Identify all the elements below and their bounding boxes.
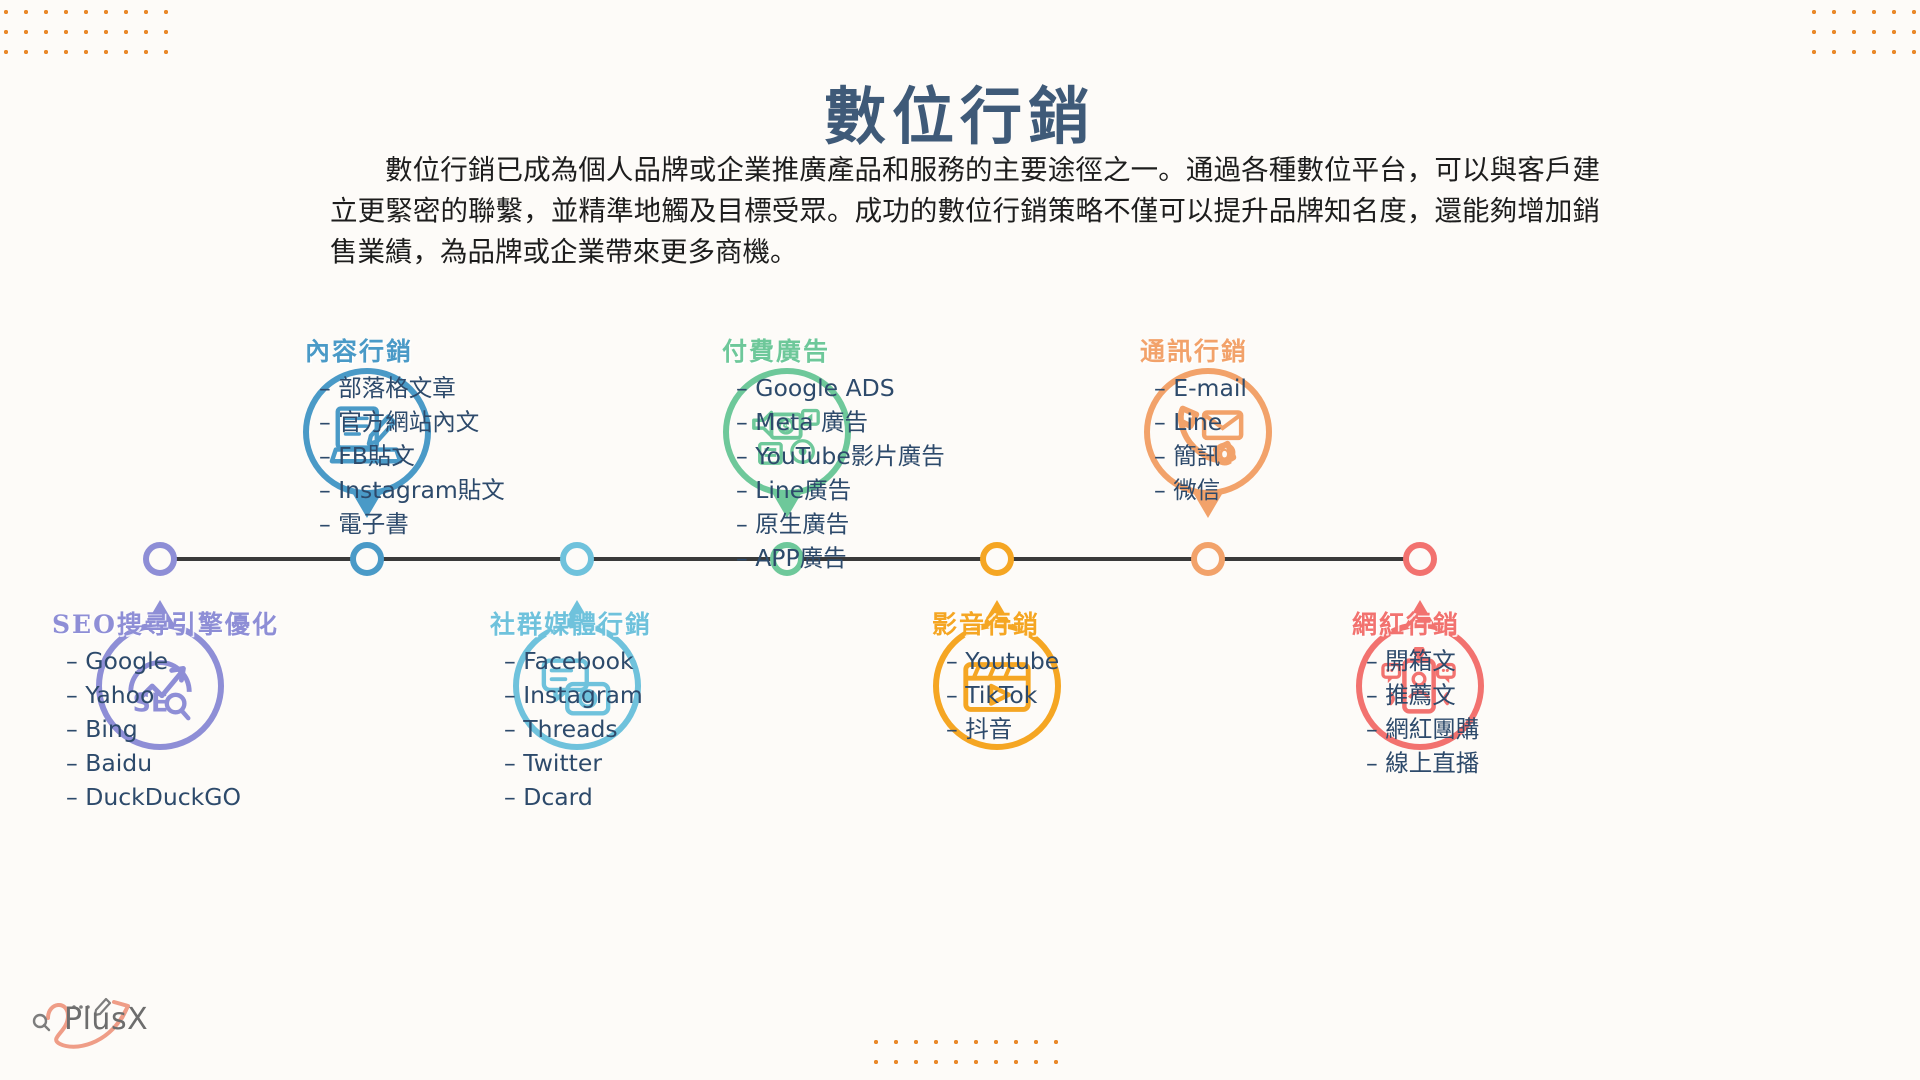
list-item: 線上直播 [1366, 746, 1479, 780]
logo-text: PlusX [64, 1002, 148, 1037]
dot-pattern-top-right [1804, 2, 1920, 68]
section-heading-social: 社群媒體行銷 [490, 605, 652, 641]
section-list-content: 部落格文章官方網站內文FB貼文Instagram貼文電子書 [305, 371, 505, 541]
list-item: 開箱文 [1366, 644, 1479, 678]
section-block-social: 社群媒體行銷FacebookInstagramThreadsTwitterDca… [490, 605, 652, 814]
list-item: TikTok [946, 678, 1059, 712]
section-block-influencer: 網紅行銷開箱文推薦文網紅團購線上直播 [1352, 605, 1479, 780]
dot-pattern-bottom [866, 1032, 1058, 1076]
section-block-video: 影音行銷YoutubeTikTok抖音 [932, 605, 1059, 746]
section-heading-video: 影音行銷 [932, 605, 1059, 641]
list-item: Facebook [504, 644, 652, 678]
section-heading-paid-ads: 付費廣告 [722, 332, 945, 368]
section-block-messaging: 通訊行銷E-mailLine簡訊微信 [1140, 332, 1248, 507]
list-item: Line廣告 [736, 473, 945, 507]
section-list-social: FacebookInstagramThreadsTwitterDcard [490, 644, 652, 814]
section-block-content: 內容行銷部落格文章官方網站內文FB貼文Instagram貼文電子書 [305, 332, 505, 541]
list-item: Instagram貼文 [319, 473, 505, 507]
plusx-logo: PlusX [22, 988, 172, 1052]
section-heading-messaging: 通訊行銷 [1140, 332, 1248, 368]
list-item: Instagram [504, 678, 652, 712]
timeline-node-video[interactable] [980, 542, 1014, 576]
section-block-paid-ads: 付費廣告Google ADSMeta 廣告YouTube影片廣告Line廣告原生… [722, 332, 945, 575]
list-item: 原生廣告 [736, 507, 945, 541]
timeline-node-influencer[interactable] [1403, 542, 1437, 576]
list-item: 網紅團購 [1366, 712, 1479, 746]
list-item: 推薦文 [1366, 678, 1479, 712]
section-heading-influencer: 網紅行銷 [1352, 605, 1479, 641]
list-item: E-mail [1154, 371, 1248, 405]
section-list-video: YoutubeTikTok抖音 [932, 644, 1059, 746]
section-list-messaging: E-mailLine簡訊微信 [1140, 371, 1248, 507]
list-item: YouTube影片廣告 [736, 439, 945, 473]
list-item: FB貼文 [319, 439, 505, 473]
list-item: Yahoo [66, 678, 279, 712]
list-item: Youtube [946, 644, 1059, 678]
list-item: 抖音 [946, 712, 1059, 746]
list-item: 電子書 [319, 507, 505, 541]
dot-pattern-top-left [0, 2, 184, 68]
section-list-influencer: 開箱文推薦文網紅團購線上直播 [1352, 644, 1479, 780]
list-item: Baidu [66, 746, 279, 780]
page-title: 數位行銷 [0, 66, 1920, 156]
list-item: Twitter [504, 746, 652, 780]
intro-paragraph: 數位行銷已成為個人品牌或企業推廣產品和服務的主要途徑之一。通過各種數位平台，可以… [330, 150, 1600, 273]
list-item: APP廣告 [736, 541, 945, 575]
timeline-node-messaging[interactable] [1191, 542, 1225, 576]
section-heading-seo: SEO搜尋引擎優化 [52, 605, 279, 641]
section-heading-content: 內容行銷 [305, 332, 505, 368]
list-item: Bing [66, 712, 279, 746]
timeline-node-social[interactable] [560, 542, 594, 576]
list-item: Meta 廣告 [736, 405, 945, 439]
list-item: Google ADS [736, 371, 945, 405]
list-item: Line [1154, 405, 1248, 439]
list-item: Dcard [504, 780, 652, 814]
section-block-seo: SEO搜尋引擎優化GoogleYahooBingBaiduDuckDuckGO [52, 605, 279, 814]
timeline-node-seo[interactable] [143, 542, 177, 576]
section-list-paid-ads: Google ADSMeta 廣告YouTube影片廣告Line廣告原生廣告AP… [722, 371, 945, 575]
list-item: 官方網站內文 [319, 405, 505, 439]
list-item: Threads [504, 712, 652, 746]
list-item: DuckDuckGO [66, 780, 279, 814]
list-item: 微信 [1154, 473, 1248, 507]
list-item: Google [66, 644, 279, 678]
list-item: 簡訊 [1154, 439, 1248, 473]
list-item: 部落格文章 [319, 371, 505, 405]
timeline-node-content[interactable] [350, 542, 384, 576]
section-list-seo: GoogleYahooBingBaiduDuckDuckGO [52, 644, 279, 814]
